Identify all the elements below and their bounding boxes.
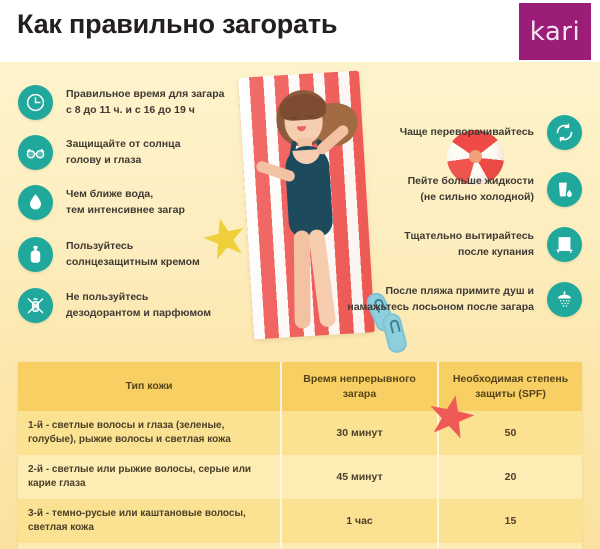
table-row: 3-й - темно-русые или каштановые волосы,… [18, 499, 582, 543]
kari-logo: kari [519, 3, 591, 60]
cell-tanning-time: 1,5 часа [281, 543, 438, 549]
tip-dry-carefully: Тщательно вытирайтесь после купания [404, 227, 582, 262]
tip-label: Не пользуйтесь дезодорантом и парфюмом [66, 290, 211, 320]
tip-label: Чем ближе вода, тем интенсивнее загар [66, 187, 185, 217]
tip-use-sunscreen: Пользуйтесь солнцезащитным кремом [18, 237, 200, 272]
shower-icon [547, 282, 582, 317]
table-body: 1-й - светлые волосы и глаза (зеленые, г… [18, 411, 582, 549]
tip-label: Пользуйтесь солнцезащитным кремом [66, 239, 200, 269]
table-header-row: Тип кожи Время непрерывного загара Необх… [18, 362, 582, 411]
cell-spf: 6 [438, 543, 582, 549]
cell-tanning-time: 1 час [281, 499, 438, 543]
cell-skin-type: 1-й - светлые волосы и глаза (зеленые, г… [18, 411, 281, 455]
cell-skin-type: 3-й - темно-русые или каштановые волосы,… [18, 499, 281, 543]
tip-water-intensity: Чем ближе вода, тем интенсивнее загар [18, 185, 185, 220]
tip-label: Чаще переворачивайтесь [400, 125, 534, 140]
tip-correct-time: Правильное время для загара с 8 до 11 ч.… [18, 85, 225, 120]
tip-protect-head-eyes: Защищайте от солнца голову и глаза [18, 135, 181, 170]
flip-flop-right-icon [380, 311, 408, 354]
cell-spf: 20 [438, 455, 582, 499]
skin-type-table: Тип кожи Время непрерывного загара Необх… [18, 362, 582, 549]
tip-label: После пляжа примите душ и намажьтесь лос… [347, 284, 534, 314]
column-header-skin-type: Тип кожи [18, 362, 281, 411]
towel-icon [547, 227, 582, 262]
clock-icon [18, 85, 53, 120]
kari-logo-text: kari [530, 17, 580, 47]
leg-right [308, 229, 337, 328]
cell-skin-type: 2-й - светлые или рыжие волосы, серые ил… [18, 455, 281, 499]
glass-of-water-icon [547, 172, 582, 207]
cell-tanning-time: 30 минут [281, 411, 438, 455]
page-header: Как правильно загорать kari [0, 0, 600, 62]
tip-label: Пейте больше жидкости (не сильно холодно… [408, 174, 534, 204]
sunglasses-icon [18, 135, 53, 170]
tip-label: Тщательно вытирайтесь после купания [404, 229, 534, 259]
tip-shower-after-beach: После пляжа примите душ и намажьтесь лос… [347, 282, 582, 317]
cell-tanning-time: 45 минут [281, 455, 438, 499]
table-row: 1-й - светлые волосы и глаза (зеленые, г… [18, 411, 582, 455]
page-title: Как правильно загорать [17, 9, 337, 40]
infographic-body: Правильное время для загара с 8 до 11 ч.… [0, 62, 600, 549]
tip-drink-more-liquid: Пейте больше жидкости (не сильно холодно… [408, 172, 582, 207]
no-deodorant-icon [18, 288, 53, 323]
table-row: 2-й - светлые или рыжие волосы, серые ил… [18, 455, 582, 499]
water-drop-icon [18, 185, 53, 220]
tip-label: Правильное время для загара с 8 до 11 ч.… [66, 87, 225, 117]
rotate-arrows-icon [547, 115, 582, 150]
tip-turn-over-often: Чаще переворачивайтесь [400, 115, 582, 150]
tip-label: Защищайте от солнца голову и глаза [66, 137, 181, 167]
tip-no-deodorant: Не пользуйтесь дезодорантом и парфюмом [18, 288, 211, 323]
table-row: 4-й - темные волосы и глаза, смуглая кож… [18, 543, 582, 549]
cell-spf: 15 [438, 499, 582, 543]
column-header-tanning-time: Время непрерывного загара [281, 362, 438, 411]
flip-flop-strap [389, 319, 401, 334]
beach-ball-hub [469, 150, 482, 163]
cell-skin-type: 4-й - темные волосы и глаза, смуглая кож… [18, 543, 281, 549]
column-header-spf: Необходимая степень защиты (SPF) [438, 362, 582, 411]
sunscreen-bottle-icon [18, 237, 53, 272]
table-head: Тип кожи Время непрерывного загара Необх… [18, 362, 582, 411]
starfish-yellow-icon [200, 214, 251, 265]
leg-left [294, 230, 311, 328]
